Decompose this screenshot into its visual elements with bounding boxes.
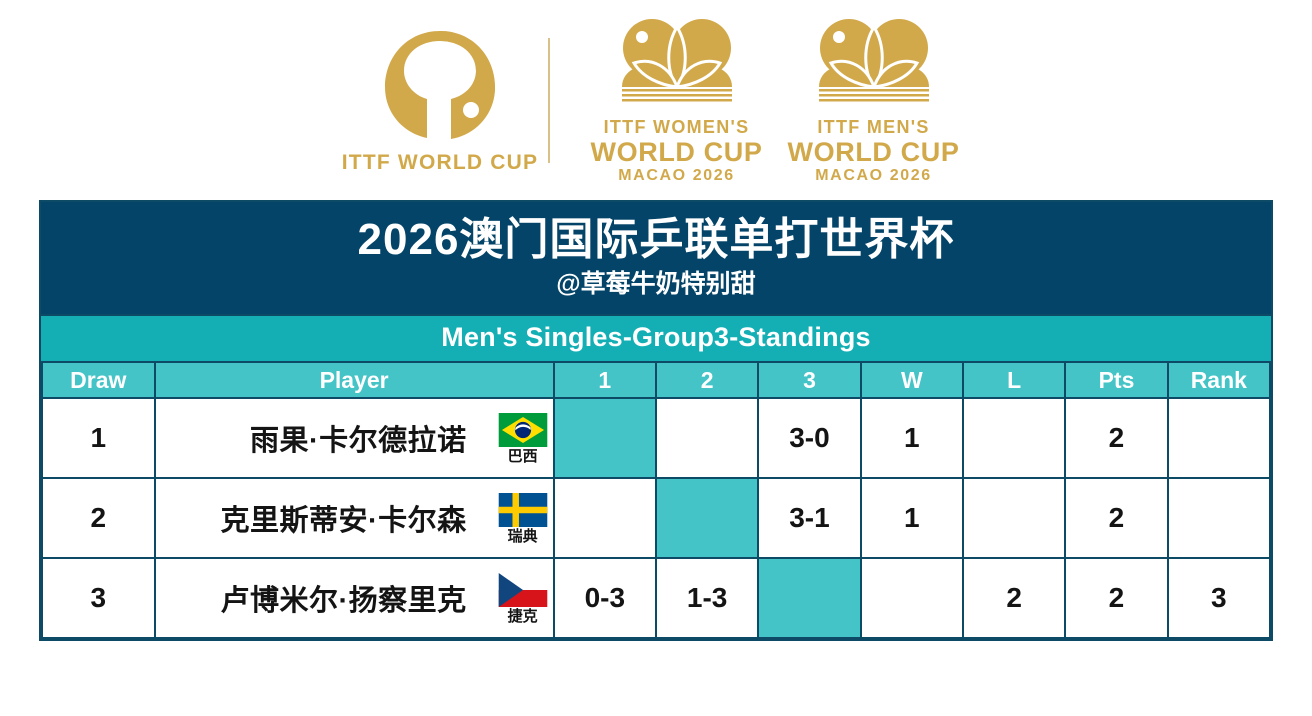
table-row: 3 卢博米尔·扬察里克 捷克 <box>42 558 1270 638</box>
cell-rank <box>1168 478 1270 558</box>
column-header-rank: Rank <box>1168 362 1270 398</box>
standings-board: 2026澳门国际乒联单打世界杯 @草莓牛奶特别甜 Men's Singles-G… <box>39 200 1273 641</box>
cell-vs-3 <box>758 558 860 638</box>
cell-player: 卢博米尔·扬察里克 捷克 <box>155 558 554 638</box>
ittf-racket-logo-icon <box>375 25 505 145</box>
cell-points: 2 <box>1065 478 1167 558</box>
mens-logo-line3: MACAO 2026 <box>815 167 931 185</box>
cell-vs-3: 3-1 <box>758 478 860 558</box>
country-label: 瑞典 <box>508 529 538 544</box>
cell-vs-2: 1-3 <box>656 558 758 638</box>
cell-vs-1: 0-3 <box>554 558 656 638</box>
cell-draw: 2 <box>42 478 155 558</box>
czech-flag-icon <box>498 573 548 607</box>
womens-logo-line2: WORLD CUP <box>591 138 763 167</box>
ittf-wordmark: ITTF WORLD CUP <box>342 151 538 175</box>
column-header-w: W <box>861 362 963 398</box>
mens-logo-line1: ITTF MEN'S <box>817 117 929 138</box>
sweden-flag-icon <box>498 493 548 527</box>
womens-logo-line1: ITTF WOMEN'S <box>604 117 750 138</box>
group-title-band: Men's Singles-Group3-Standings <box>41 314 1271 361</box>
cell-rank: 3 <box>1168 558 1270 638</box>
cell-wins: 1 <box>861 478 963 558</box>
branding-header: ITTF WORLD CUP ITTF WOMEN'S W <box>0 0 1312 200</box>
macao-lotus-logo-icon <box>799 15 949 115</box>
brazil-flag-icon <box>498 413 548 447</box>
player-name: 卢博米尔·扬察里克 <box>220 577 466 619</box>
cell-losses: 2 <box>963 558 1065 638</box>
cell-vs-1 <box>554 398 656 478</box>
cell-points: 2 <box>1065 558 1167 638</box>
cell-vs-1 <box>554 478 656 558</box>
logo-divider <box>548 38 550 163</box>
cell-rank <box>1168 398 1270 478</box>
column-header-pts: Pts <box>1065 362 1167 398</box>
player-country: 捷克 <box>493 573 553 624</box>
player-country: 巴西 <box>493 413 553 464</box>
column-header-draw: Draw <box>42 362 155 398</box>
group-title: Men's Singles-Group3-Standings <box>441 322 870 352</box>
cell-player: 克里斯蒂安·卡尔森 瑞典 <box>155 478 554 558</box>
macao-lotus-logo-icon <box>602 15 752 115</box>
cell-wins: 1 <box>861 398 963 478</box>
cell-vs-2 <box>656 478 758 558</box>
column-header-3: 3 <box>758 362 860 398</box>
cell-losses <box>963 398 1065 478</box>
title-band: 2026澳门国际乒联单打世界杯 @草莓牛奶特别甜 <box>41 202 1271 314</box>
standings-table: Draw Player 1 2 3 W L Pts Rank 1 雨果·卡尔德拉… <box>41 361 1271 639</box>
standings-body: 1 雨果·卡尔德拉诺 <box>42 398 1270 638</box>
cell-vs-2 <box>656 398 758 478</box>
cell-draw: 3 <box>42 558 155 638</box>
mens-logo-line2: WORLD CUP <box>788 138 960 167</box>
country-label: 巴西 <box>508 449 538 464</box>
column-header-player: Player <box>155 362 554 398</box>
cell-player: 雨果·卡尔德拉诺 巴西 <box>155 398 554 478</box>
table-header-row: Draw Player 1 2 3 W L Pts Rank <box>42 362 1270 398</box>
country-label: 捷克 <box>508 609 538 624</box>
cell-wins <box>861 558 963 638</box>
page-title: 2026澳门国际乒联单打世界杯 <box>41 212 1271 267</box>
column-header-l: L <box>963 362 1065 398</box>
ittf-world-cup-logo: ITTF WORLD CUP <box>340 25 540 175</box>
column-header-2: 2 <box>656 362 758 398</box>
column-header-1: 1 <box>554 362 656 398</box>
cell-points: 2 <box>1065 398 1167 478</box>
cell-vs-3: 3-0 <box>758 398 860 478</box>
mens-world-cup-logo: ITTF MEN'S WORLD CUP MACAO 2026 <box>781 15 966 185</box>
player-name: 克里斯蒂安·卡尔森 <box>220 497 466 539</box>
logo-group: ITTF WORLD CUP ITTF WOMEN'S W <box>340 15 972 185</box>
table-row: 1 雨果·卡尔德拉诺 <box>42 398 1270 478</box>
author-handle: @草莓牛奶特别甜 <box>41 269 1271 300</box>
cell-draw: 1 <box>42 398 155 478</box>
womens-world-cup-logo: ITTF WOMEN'S WORLD CUP MACAO 2026 <box>584 15 769 185</box>
cell-losses <box>963 478 1065 558</box>
womens-logo-line3: MACAO 2026 <box>618 167 734 185</box>
player-country: 瑞典 <box>493 493 553 544</box>
player-name: 雨果·卡尔德拉诺 <box>250 417 467 459</box>
table-row: 2 克里斯蒂安·卡尔森 瑞典 <box>42 478 1270 558</box>
